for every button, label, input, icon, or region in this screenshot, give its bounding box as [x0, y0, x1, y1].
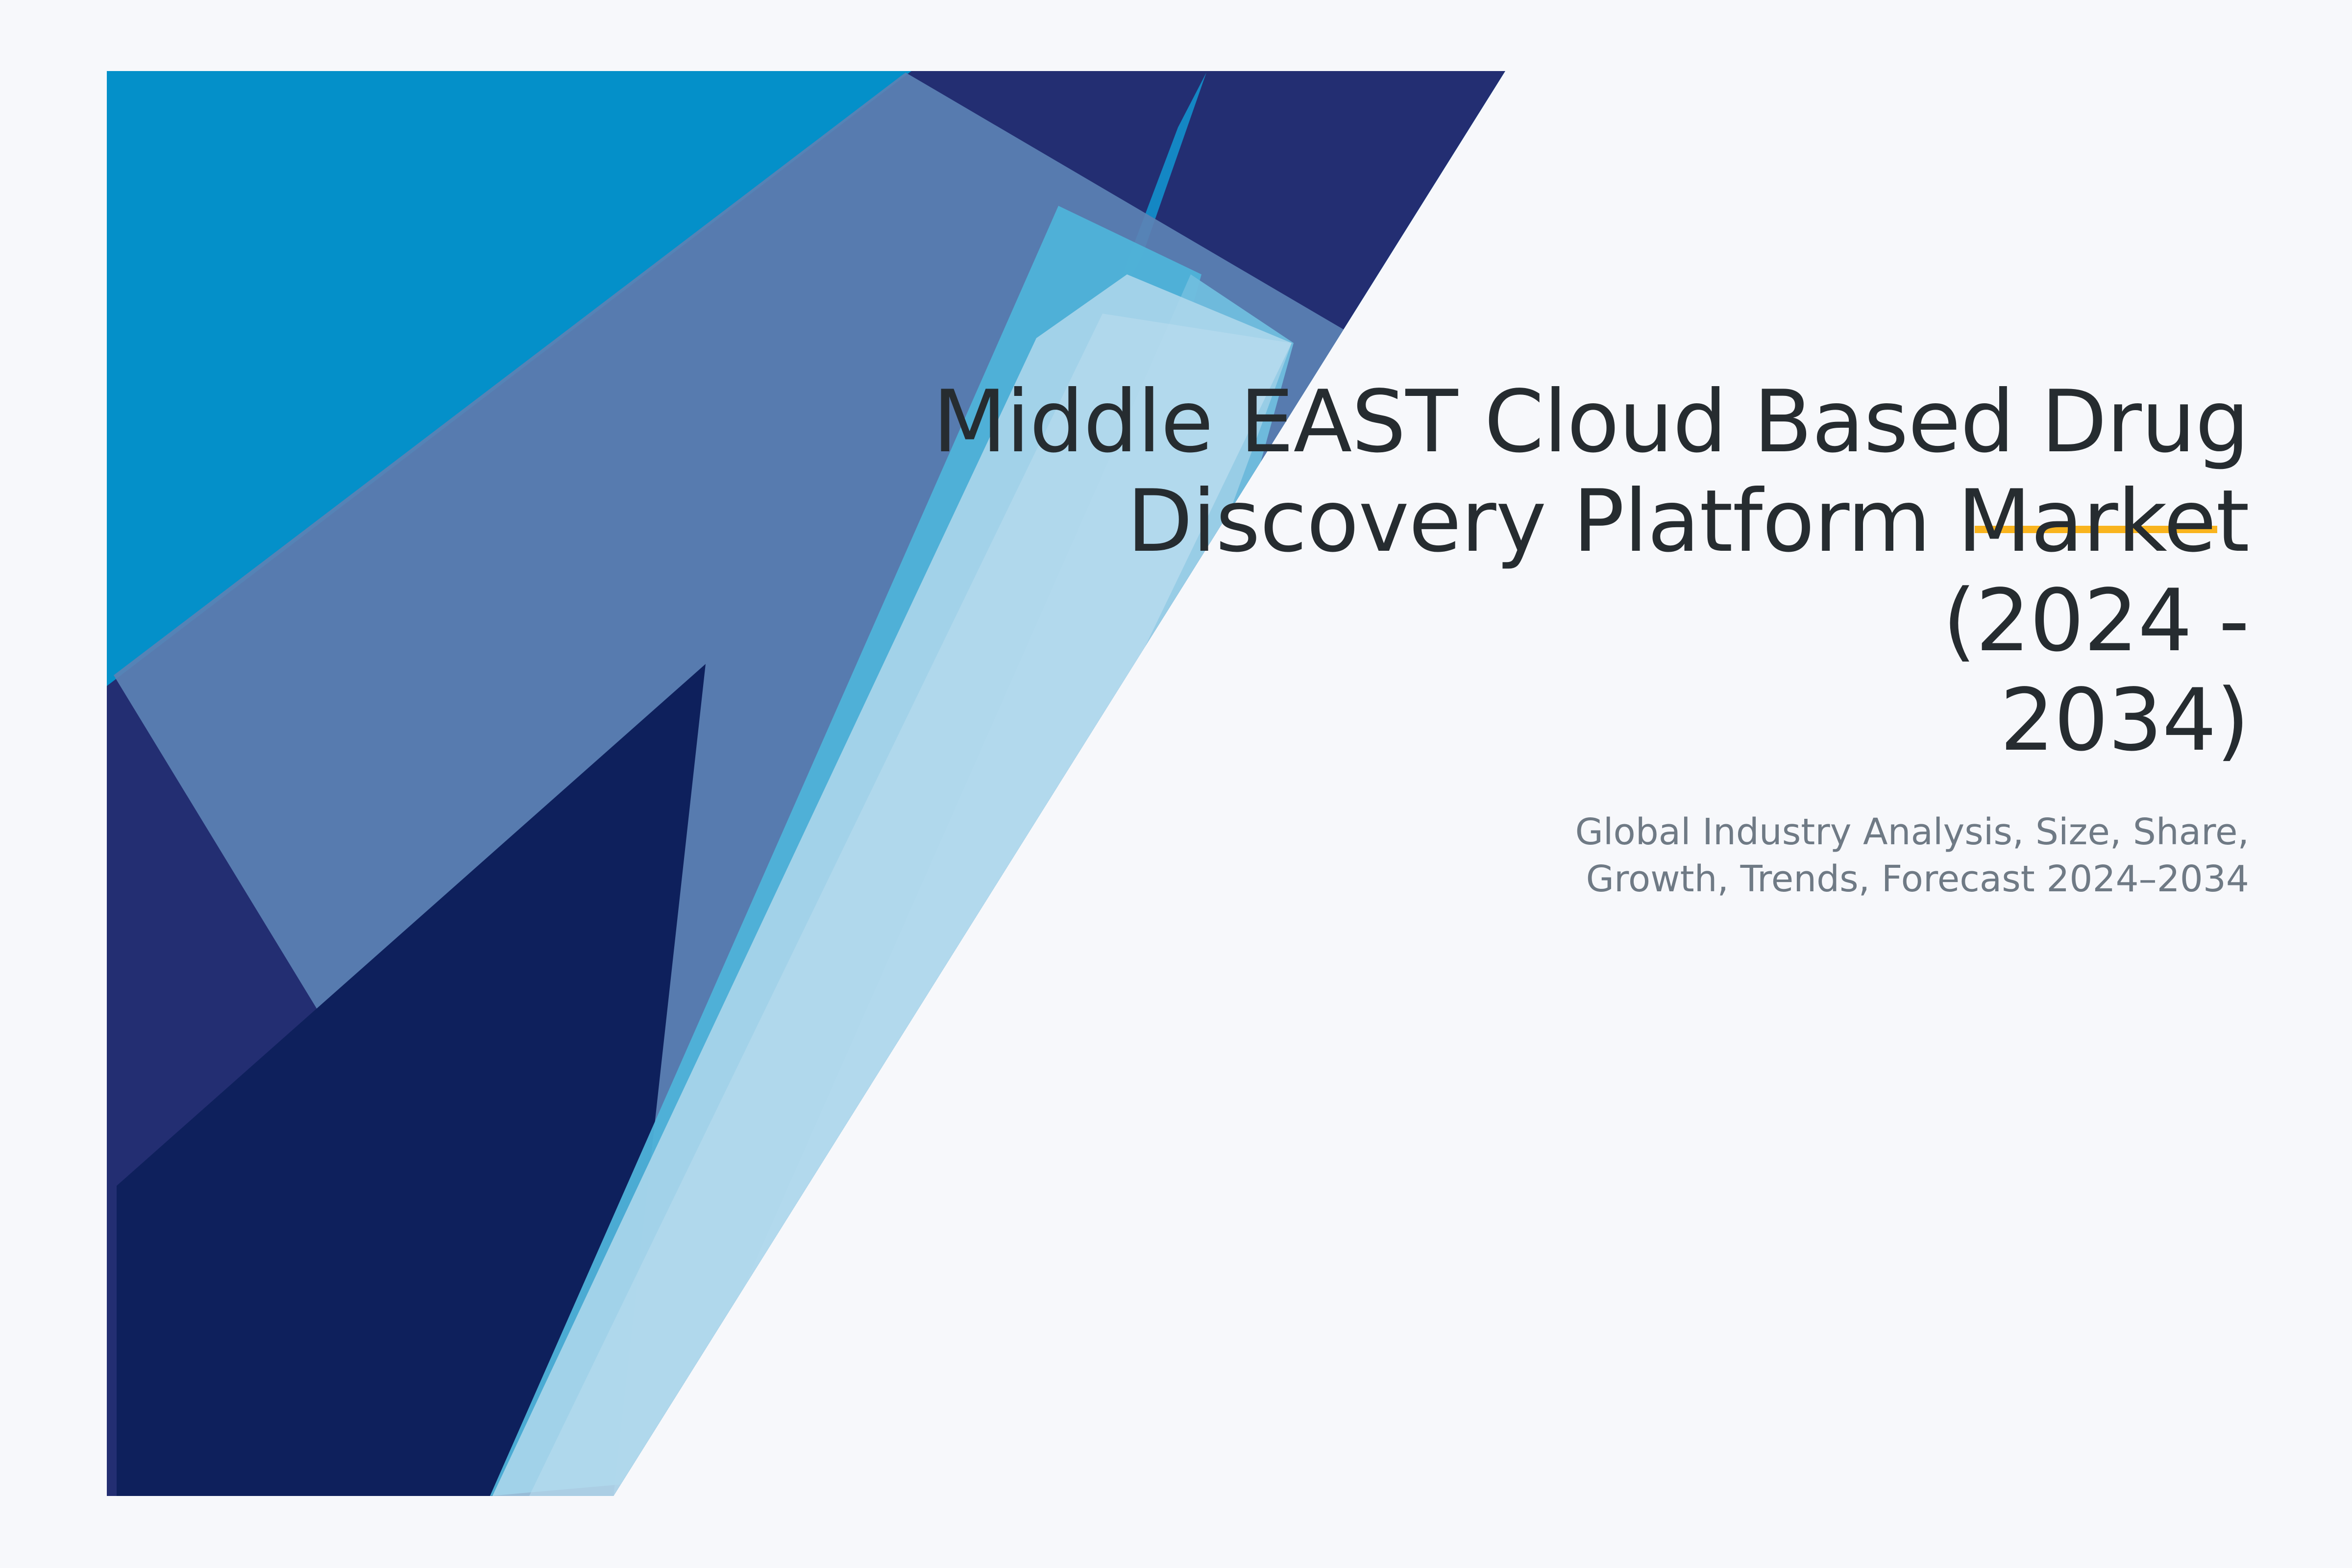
report-cover: Middle EAST Cloud Based DrugDiscovery Pl…: [0, 0, 2352, 1568]
title-line-1: Middle EAST Cloud Based Drug: [932, 372, 2249, 472]
subtitle-line-2: Growth, Trends, Forecast 2024–2034: [1586, 858, 2249, 900]
title-line-3: 2034): [2000, 671, 2249, 770]
subtitle-line-1: Global Industry Analysis, Size, Share,: [1575, 811, 2249, 853]
shape-deep-navy-lower: [117, 1186, 613, 1496]
page-title: Middle EAST Cloud Based DrugDiscovery Pl…: [931, 372, 2249, 770]
shape-cyan-sliver: [1097, 73, 1206, 343]
page-subtitle: Global Industry Analysis, Size, Share,Gr…: [931, 808, 2249, 903]
title-line-2: Discovery Platform Market (2024 -: [1127, 472, 2249, 671]
shape-deep-navy-wedge: [117, 664, 706, 1496]
cover-text-block: Middle EAST Cloud Based DrugDiscovery Pl…: [931, 372, 2249, 903]
